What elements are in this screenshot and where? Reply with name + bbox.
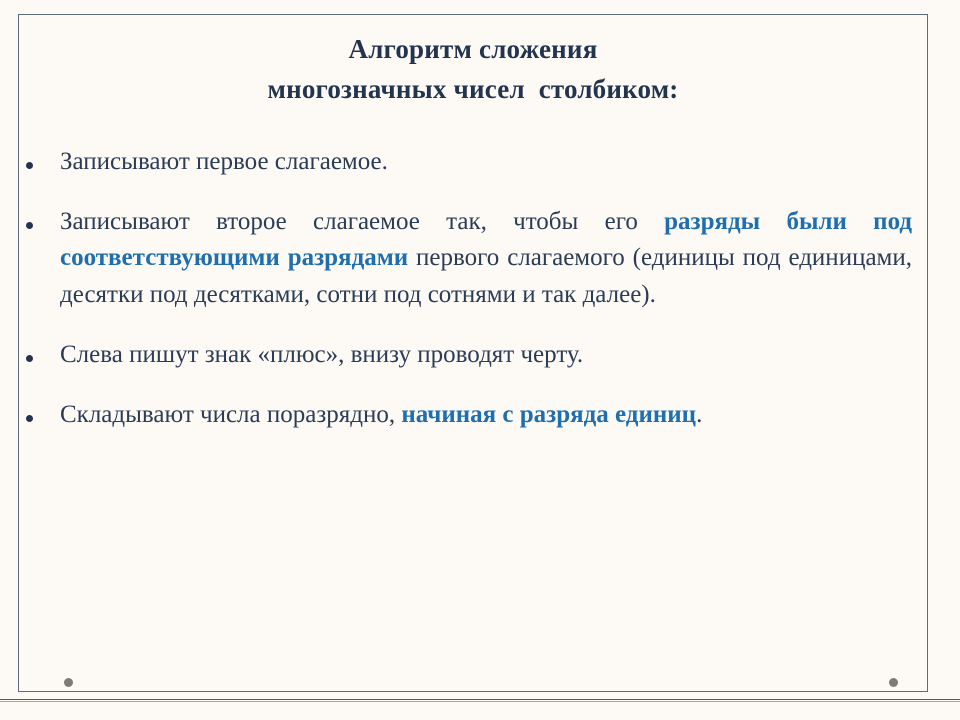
text-run: . [696,401,702,428]
list-item-text: Складывают числа поразрядно, начиная с р… [60,397,912,433]
bullet-dot-icon [26,204,60,234]
title-line-1: Алгоритм сложения [60,30,886,70]
list-item: Записывают второе слагаемое так, чтобы е… [26,204,912,313]
bullet-dot-icon [26,337,60,367]
list-item-text: Слева пишут знак «плюс», внизу проводят … [60,337,912,373]
text-run: Записывают первое слагаемое. [60,148,388,175]
list-item-text: Записывают первое слагаемое. [60,144,912,180]
list-item-text: Записывают второе слагаемое так, чтобы е… [60,204,912,313]
bottom-divider [0,699,960,702]
page-title: Алгоритм сложения многозначных чисел сто… [20,26,926,110]
list-item: Складывают числа поразрядно, начиная с р… [26,397,912,433]
list-item: Записывают первое слагаемое. [26,144,912,180]
slide: Алгоритм сложения многозначных чисел сто… [0,0,960,720]
list-item: Слева пишут знак «плюс», внизу проводят … [26,337,912,373]
slide-content: Алгоритм сложения многозначных чисел сто… [18,14,928,692]
highlighted-phrase: начиная с разряда единиц [401,401,696,428]
bullet-dot-icon [26,144,60,174]
title-line-2: многозначных чисел столбиком: [60,70,886,110]
text-run: Складывают числа поразрядно, [60,401,401,428]
bullet-dot-icon [26,397,60,427]
text-run: Слева пишут знак «плюс», внизу проводят … [60,341,583,368]
decorative-dot-right-icon [889,678,898,687]
text-run: Записывают второе слагаемое так, чтобы е… [60,208,664,235]
algorithm-steps-list: Записывают первое слагаемое.Записывают в… [20,144,926,434]
decorative-dot-left-icon [64,678,73,687]
